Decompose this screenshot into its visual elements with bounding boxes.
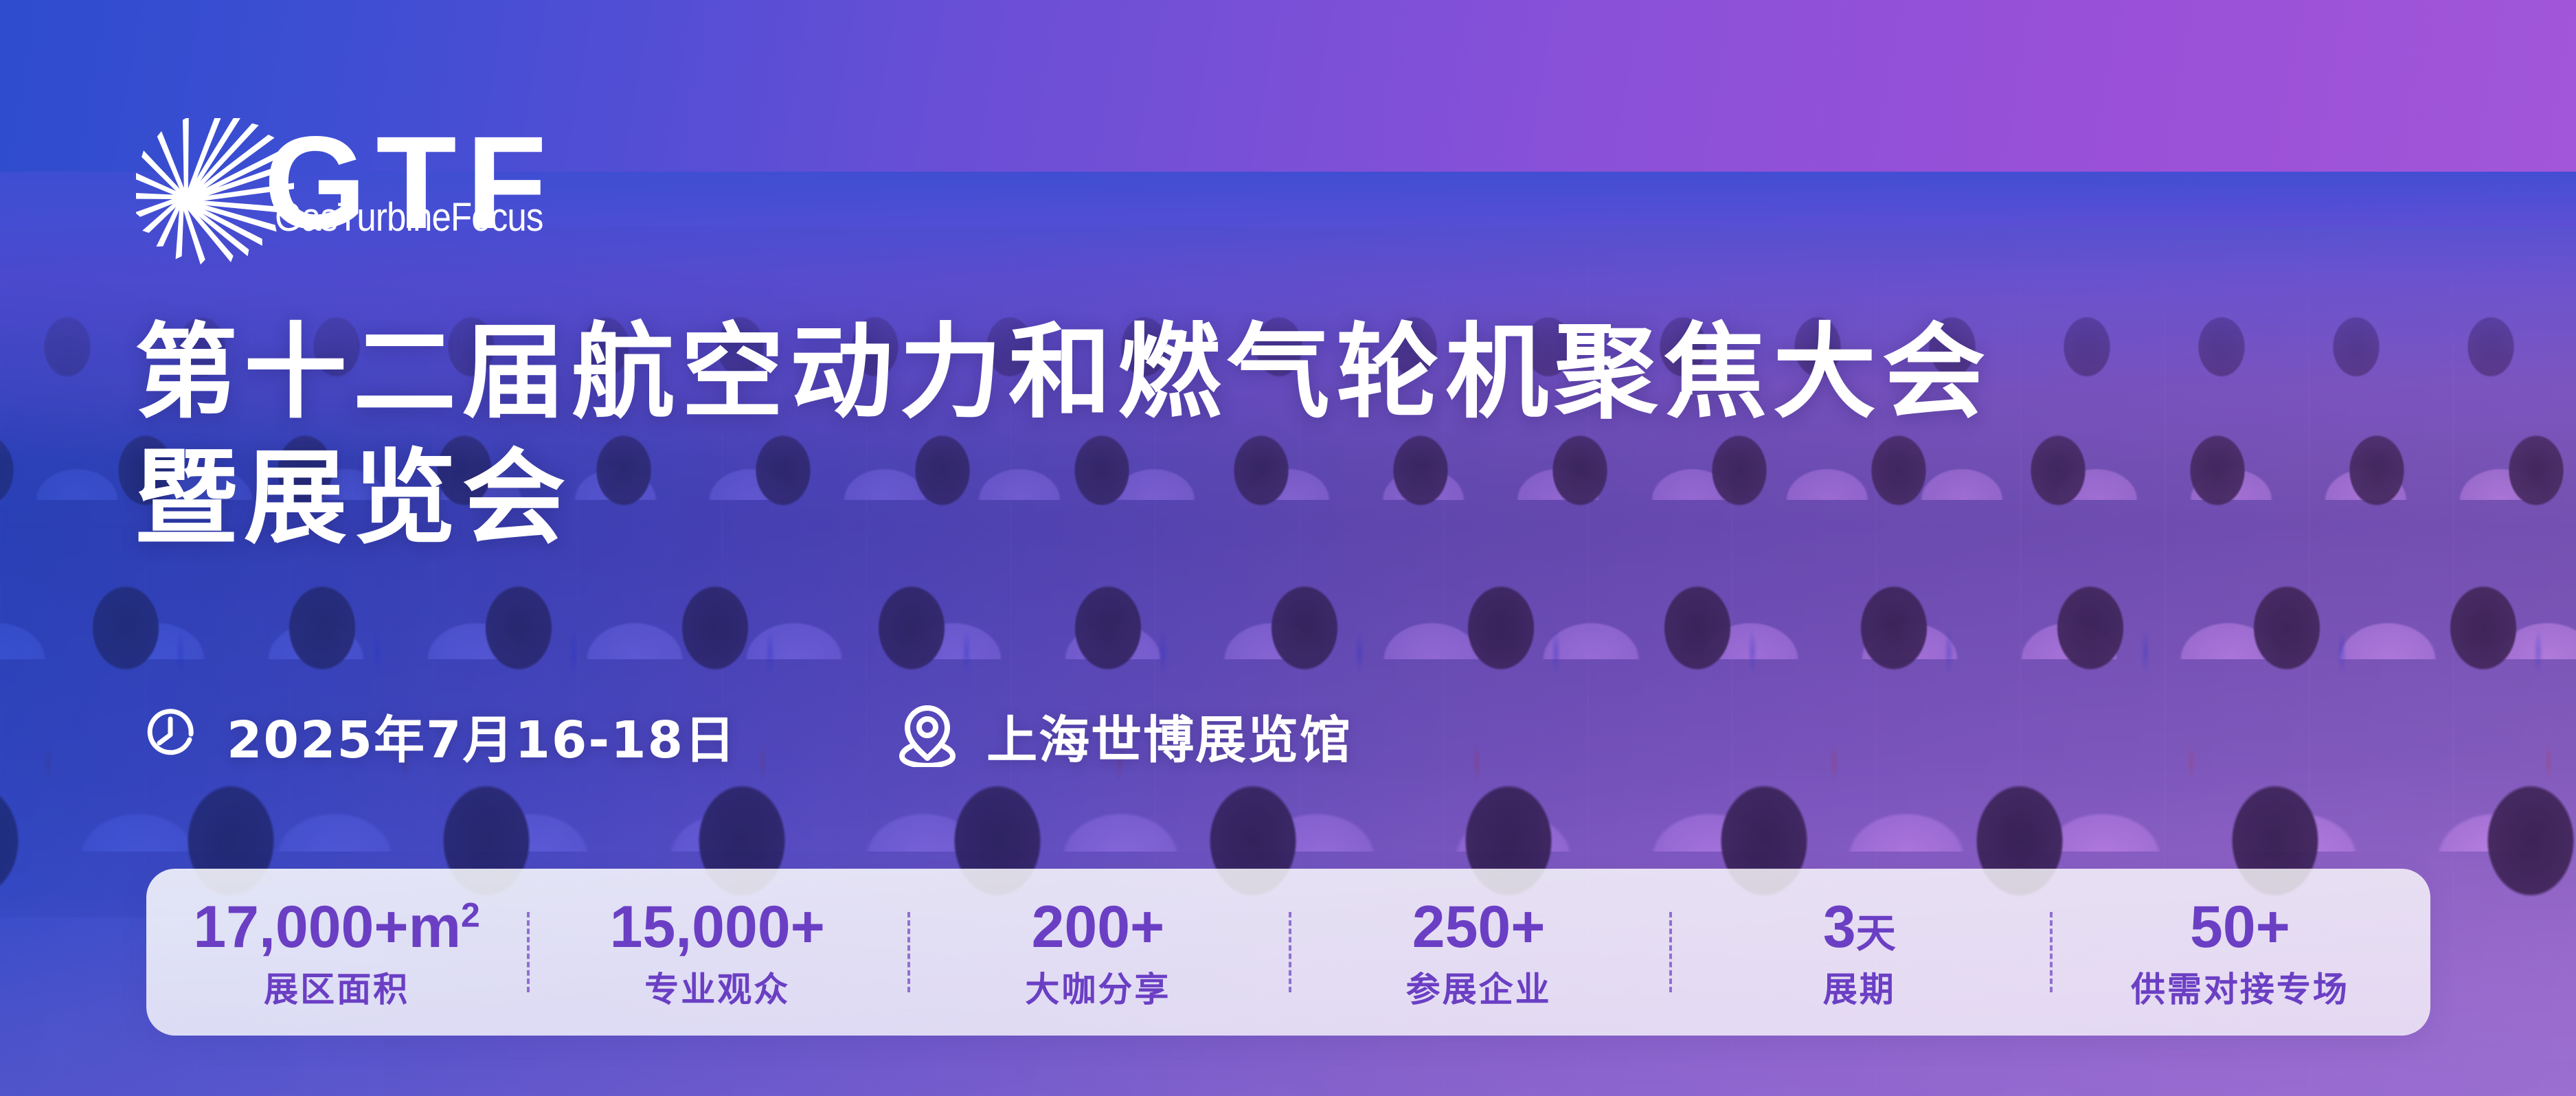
stat-value: 17,000+m2 [193,897,480,958]
stat-item: 200+ 大咖分享 [907,893,1288,1012]
stat-value: 250+ [1412,897,1546,958]
stat-value: 3天 [1823,897,1896,958]
stat-value: 15,000+ [610,897,825,958]
stat-item: 50+ 供需对接专场 [2050,893,2430,1012]
stat-item: 250+ 参展企业 [1289,893,1669,1012]
gtf-logo[interactable]: GTF GasTurbineFocus [136,115,562,273]
event-meta: 2025年7月16-18日 上海世博展览馆 [142,699,1352,773]
stat-label: 参展企业 [1406,962,1552,1012]
stat-superscript: 2 [461,895,480,934]
stat-label: 大咖分享 [1025,962,1171,1012]
conference-banner: GTF GasTurbineFocus 第十二届航空动力和燃气轮机聚焦大会 暨展… [0,0,2576,1096]
clock-icon [142,705,199,766]
stat-label: 供需对接专场 [2131,962,2349,1012]
stat-value: 200+ [1032,897,1165,958]
gtf-wordmark: GTF GasTurbineFocus [264,117,559,268]
gtf-wordmark-full: GasTurbineFocus [275,198,543,238]
stat-label: 展区面积 [264,962,409,1012]
stat-item: 15,000+ 专业观众 [527,893,907,1012]
stat-label: 展期 [1823,962,1896,1012]
page-title-line-2: 暨展览会 [135,436,2402,562]
map-pin-icon [896,701,959,770]
event-date: 2025年7月16-18日 [142,699,736,773]
event-date-text: 2025年7月16-18日 [227,699,736,773]
event-venue-text: 上海世博展览馆 [986,699,1352,773]
page-title: 第十二届航空动力和燃气轮机聚焦大会 暨展览会 [135,310,2402,562]
stat-label: 专业观众 [644,962,790,1012]
page-title-line-1: 第十二届航空动力和燃气轮机聚焦大会 [135,313,1991,433]
stats-panel: 17,000+m2 展区面积 15,000+ 专业观众 200+ 大咖分享 25… [146,869,2430,1036]
event-venue: 上海世博展览馆 [896,699,1352,773]
stat-item: 3天 展期 [1669,893,2050,1012]
stat-value: 50+ [2190,897,2290,958]
stat-unit: 天 [1856,911,1896,956]
stat-item: 17,000+m2 展区面积 [146,893,527,1012]
